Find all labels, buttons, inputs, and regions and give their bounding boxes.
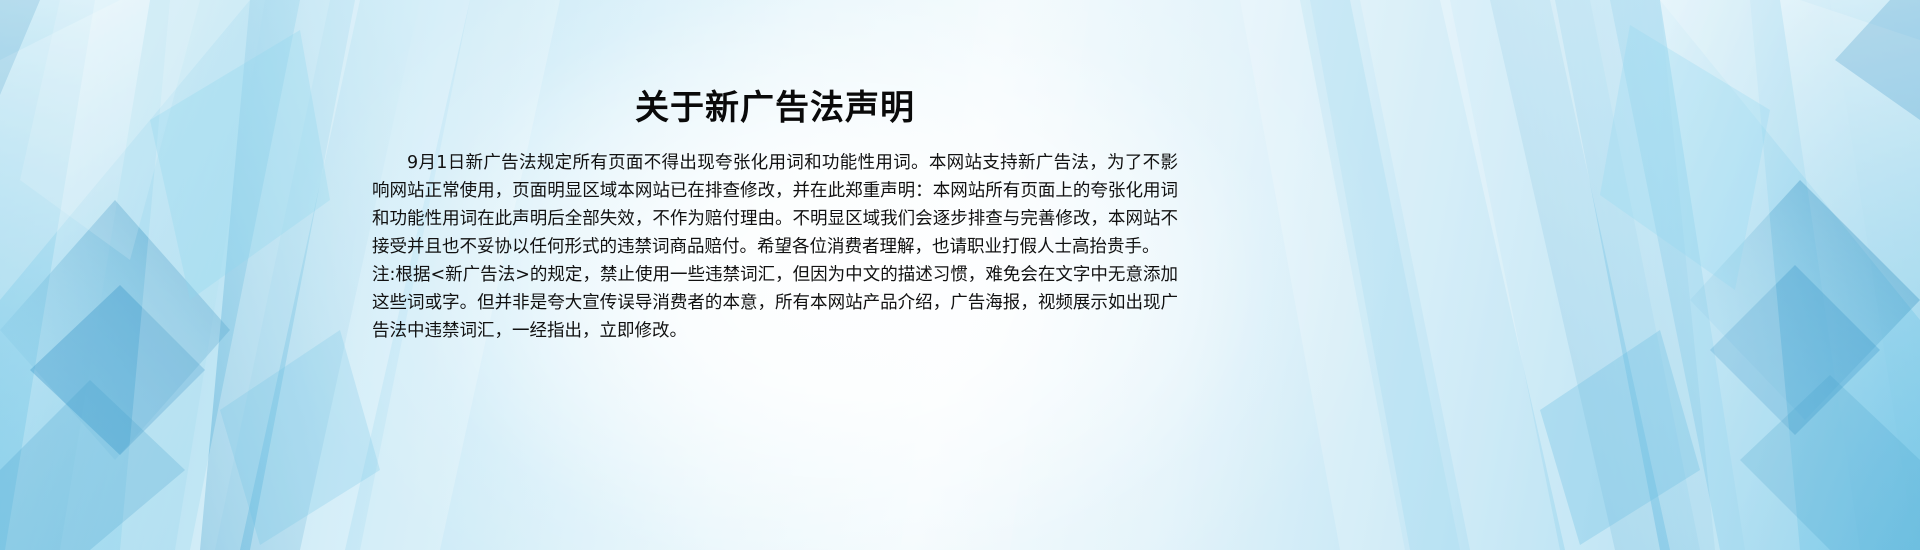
statement-paragraph-note: 注:根据<新广告法>的规定，禁止使用一些违禁词汇，但因为中文的描述习惯，难免会在…: [372, 261, 1178, 345]
banner-canvas: 关于新广告法声明 9月1日新广告法规定所有页面不得出现夸张化用词和功能性用词。本…: [0, 0, 1920, 550]
statement-content: 关于新广告法声明 9月1日新广告法规定所有页面不得出现夸张化用词和功能性用词。本…: [372, 0, 1178, 550]
page-title: 关于新广告法声明: [372, 0, 1178, 130]
statement-paragraph-main: 9月1日新广告法规定所有页面不得出现夸张化用词和功能性用词。本网站支持新广告法，…: [372, 149, 1178, 261]
